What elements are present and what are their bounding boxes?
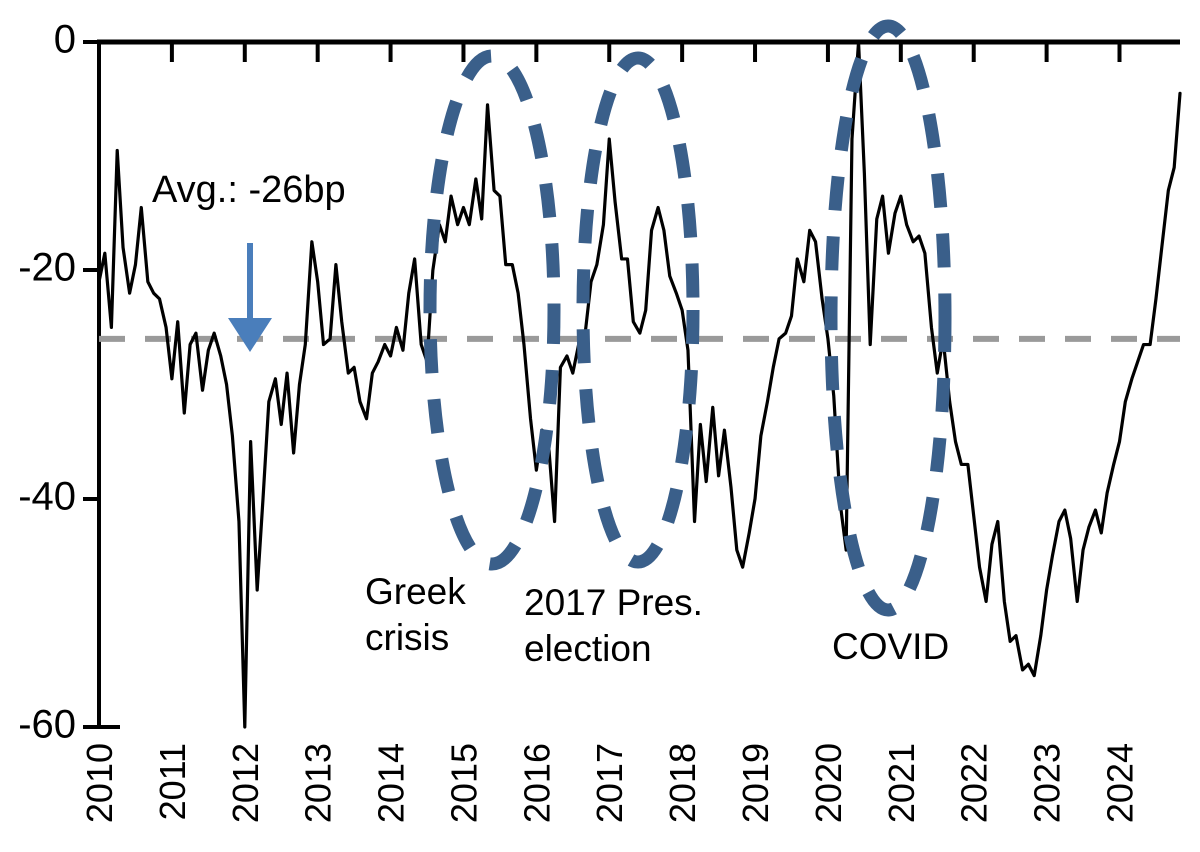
- avg-arrow-head: [228, 318, 272, 352]
- pres-election-label-line2: election: [524, 628, 652, 669]
- x-tick-label-2012: 2012: [225, 743, 266, 823]
- chart-container: 0 -20 -40 -60 20102011201220132014201520…: [0, 0, 1200, 852]
- x-tick-label-2010: 2010: [79, 743, 120, 823]
- x-tick-label-2011: 2011: [152, 743, 193, 820]
- x-tick-label-2017: 2017: [589, 743, 630, 823]
- annotation-greek-crisis: Greek crisis: [365, 571, 466, 658]
- greek-crisis-ellipse: [430, 56, 554, 564]
- covid-label-line1: COVID: [832, 626, 949, 667]
- axes: [97, 42, 1180, 727]
- line-chart: 0 -20 -40 -60 20102011201220132014201520…: [0, 0, 1200, 852]
- annotation-pres-election: 2017 Pres. election: [524, 582, 703, 669]
- data-series-line: [99, 42, 1180, 727]
- x-tick-label-2024: 2024: [1099, 743, 1140, 823]
- y-tick-label-minus40: -40: [18, 475, 76, 519]
- x-tick-label-2019: 2019: [735, 743, 776, 823]
- x-tick-label-2013: 2013: [298, 743, 339, 823]
- x-tick-label-2018: 2018: [662, 743, 703, 823]
- x-tick-label-2021: 2021: [881, 743, 922, 823]
- pres-election-label-line1: 2017 Pres.: [524, 582, 703, 623]
- y-tick-label-minus20: -20: [18, 246, 76, 290]
- y-axis-ticks: 0 -20 -40 -60: [18, 18, 99, 747]
- annotation-covid: COVID: [832, 626, 949, 667]
- x-tick-label-2020: 2020: [808, 743, 849, 823]
- avg-callout-label: Avg.: -26bp: [152, 169, 346, 211]
- greek-crisis-label-line2: crisis: [365, 617, 449, 658]
- x-tick-label-2023: 2023: [1027, 743, 1068, 823]
- x-tick-label-2014: 2014: [371, 743, 412, 823]
- pres-election-ellipse: [583, 58, 693, 562]
- y-tick-label-minus60: -60: [18, 703, 76, 747]
- x-tick-label-2016: 2016: [516, 743, 557, 823]
- x-tick-label-2022: 2022: [954, 743, 995, 823]
- x-tick-label-2015: 2015: [443, 743, 484, 823]
- avg-arrow: [228, 243, 272, 352]
- greek-crisis-label-line1: Greek: [365, 571, 466, 612]
- y-tick-label-0: 0: [54, 18, 76, 62]
